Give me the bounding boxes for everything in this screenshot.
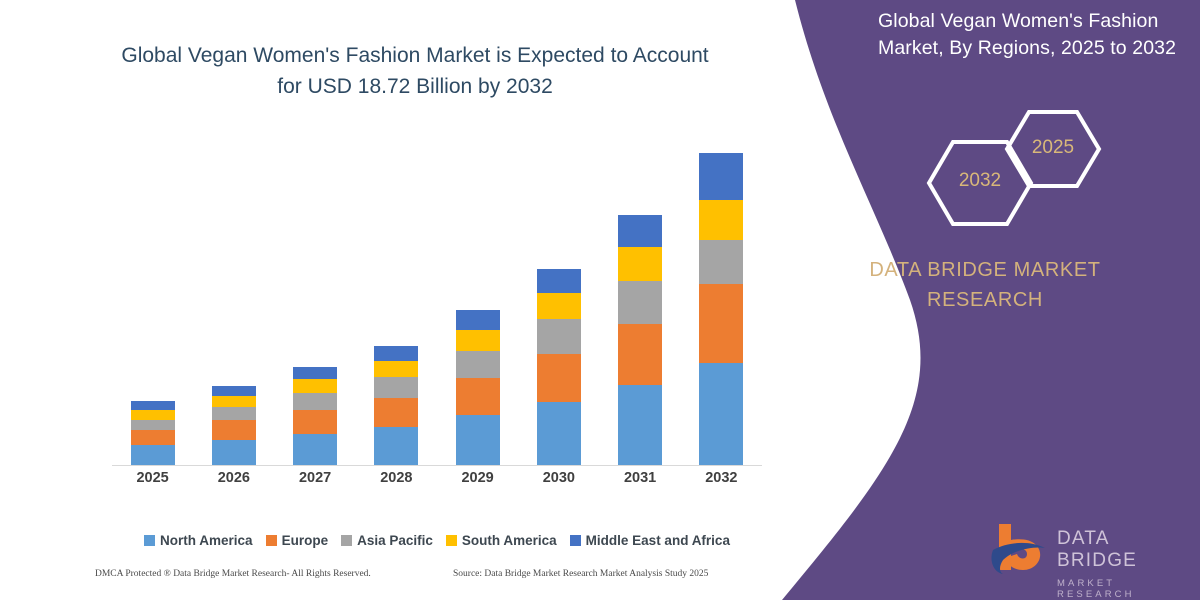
page-title: Global Vegan Women's Fashion Market is E… bbox=[105, 40, 725, 102]
page-title-line2: for USD 18.72 Billion by 2032 bbox=[105, 71, 725, 102]
legend-swatch-icon bbox=[341, 535, 352, 546]
chart-legend: North AmericaEuropeAsia PacificSouth Ame… bbox=[112, 530, 762, 550]
bar-segment-europe bbox=[374, 398, 418, 427]
bar-segment-europe bbox=[618, 324, 662, 385]
bar-2026 bbox=[212, 385, 256, 465]
legend-item-north-america[interactable]: North America bbox=[144, 533, 253, 548]
logo-wordmark-line2: MARKET RESEARCH bbox=[1057, 578, 1190, 600]
bar-segment-north-america bbox=[212, 440, 256, 465]
bar-segment-middle-east-and-africa bbox=[293, 367, 337, 379]
bar-2031 bbox=[618, 215, 662, 465]
bar-group bbox=[112, 140, 762, 465]
logo-wordmark-line1: DATA BRIDGE bbox=[1057, 528, 1190, 572]
bar-segment-middle-east-and-africa bbox=[537, 269, 581, 293]
bar-segment-europe bbox=[456, 378, 500, 416]
bar-segment-north-america bbox=[131, 445, 175, 465]
bar-2028 bbox=[374, 346, 418, 465]
chart-plot-area bbox=[112, 140, 762, 466]
legend-label: South America bbox=[462, 533, 557, 548]
bar-segment-europe bbox=[293, 410, 337, 434]
x-axis-label-2031: 2031 bbox=[600, 470, 680, 494]
legend-item-middle-east-and-africa[interactable]: Middle East and Africa bbox=[570, 533, 730, 548]
bar-segment-europe bbox=[699, 284, 743, 363]
logo-mark-icon bbox=[985, 520, 1055, 576]
x-axis-label-2032: 2032 bbox=[681, 470, 761, 494]
bar-segment-north-america bbox=[374, 427, 418, 465]
bar-segment-asia-pacific bbox=[699, 240, 743, 284]
x-axis-label-2029: 2029 bbox=[438, 470, 518, 494]
bar-segment-south-america bbox=[212, 396, 256, 407]
footer-source: Source: Data Bridge Market Research Mark… bbox=[453, 569, 708, 579]
legend-swatch-icon bbox=[266, 535, 277, 546]
x-axis-labels: 20252026202720282029203020312032 bbox=[112, 470, 762, 494]
bar-segment-north-america bbox=[618, 385, 662, 465]
bar-segment-middle-east-and-africa bbox=[212, 386, 256, 396]
hexagon-start-year: 2025 bbox=[1003, 108, 1103, 190]
x-axis-label-2030: 2030 bbox=[519, 470, 599, 494]
bar-segment-south-america bbox=[699, 200, 743, 240]
brand-name: DATA BRIDGE MARKET RESEARCH bbox=[790, 255, 1180, 315]
bar-segment-south-america bbox=[618, 247, 662, 281]
legend-label: Asia Pacific bbox=[357, 533, 433, 548]
legend-label: North America bbox=[160, 533, 253, 548]
brand-name-line2: RESEARCH bbox=[790, 285, 1180, 315]
bar-segment-asia-pacific bbox=[212, 407, 256, 420]
bar-2032 bbox=[699, 153, 743, 465]
bar-segment-europe bbox=[212, 420, 256, 439]
legend-swatch-icon bbox=[570, 535, 581, 546]
bar-segment-middle-east-and-africa bbox=[456, 310, 500, 329]
bar-segment-south-america bbox=[131, 410, 175, 420]
bar-segment-asia-pacific bbox=[374, 377, 418, 398]
bar-segment-middle-east-and-africa bbox=[618, 215, 662, 246]
bar-2030 bbox=[537, 269, 581, 465]
bar-segment-middle-east-and-africa bbox=[131, 401, 175, 410]
bar-segment-europe bbox=[537, 354, 581, 402]
bar-segment-europe bbox=[131, 430, 175, 445]
bar-segment-asia-pacific bbox=[537, 319, 581, 354]
x-axis-label-2025: 2025 bbox=[113, 470, 193, 494]
bar-segment-south-america bbox=[293, 379, 337, 393]
panel-title-line1: Global Vegan Women's Fashion bbox=[878, 8, 1188, 35]
x-axis-label-2027: 2027 bbox=[275, 470, 355, 494]
bar-segment-north-america bbox=[699, 363, 743, 465]
legend-swatch-icon bbox=[144, 535, 155, 546]
bar-2027 bbox=[293, 367, 337, 465]
bar-2025 bbox=[131, 401, 175, 465]
brand-panel: Global Vegan Women's Fashion Market, By … bbox=[770, 0, 1200, 600]
x-axis-label-2028: 2028 bbox=[356, 470, 436, 494]
bar-segment-south-america bbox=[537, 293, 581, 319]
bar-segment-north-america bbox=[293, 434, 337, 465]
bar-segment-north-america bbox=[537, 402, 581, 465]
page-title-line1: Global Vegan Women's Fashion Market is E… bbox=[105, 40, 725, 71]
bar-segment-middle-east-and-africa bbox=[374, 346, 418, 361]
bar-segment-asia-pacific bbox=[131, 420, 175, 430]
bar-segment-asia-pacific bbox=[456, 351, 500, 378]
bar-segment-north-america bbox=[456, 415, 500, 465]
legend-label: Middle East and Africa bbox=[586, 533, 730, 548]
brand-name-line1: DATA BRIDGE MARKET bbox=[790, 255, 1180, 285]
logo-wordmark: DATA BRIDGE MARKET RESEARCH bbox=[1057, 528, 1190, 600]
panel-title-line2: Market, By Regions, 2025 to 2032 bbox=[878, 35, 1188, 62]
bar-segment-south-america bbox=[374, 361, 418, 377]
infographic-canvas: Global Vegan Women's Fashion Market is E… bbox=[0, 0, 1200, 600]
legend-item-asia-pacific[interactable]: Asia Pacific bbox=[341, 533, 433, 548]
panel-title: Global Vegan Women's Fashion Market, By … bbox=[878, 8, 1188, 62]
bar-segment-asia-pacific bbox=[618, 281, 662, 325]
legend-item-europe[interactable]: Europe bbox=[266, 533, 329, 548]
bar-segment-asia-pacific bbox=[293, 393, 337, 410]
legend-item-south-america[interactable]: South America bbox=[446, 533, 557, 548]
bar-2029 bbox=[456, 310, 500, 465]
footer: DMCA Protected ® Data Bridge Market Rese… bbox=[95, 569, 775, 585]
bar-segment-south-america bbox=[456, 330, 500, 351]
company-logo: DATA BRIDGE MARKET RESEARCH bbox=[985, 520, 1190, 578]
legend-label: Europe bbox=[282, 533, 329, 548]
x-axis-label-2026: 2026 bbox=[194, 470, 274, 494]
bar-segment-middle-east-and-africa bbox=[699, 153, 743, 200]
legend-swatch-icon bbox=[446, 535, 457, 546]
x-axis-line bbox=[112, 465, 762, 466]
hexagon-start-year-label: 2025 bbox=[1003, 137, 1103, 159]
hexagon-group: 2032 2025 bbox=[925, 108, 1105, 228]
footer-copyright: DMCA Protected ® Data Bridge Market Rese… bbox=[95, 569, 371, 579]
